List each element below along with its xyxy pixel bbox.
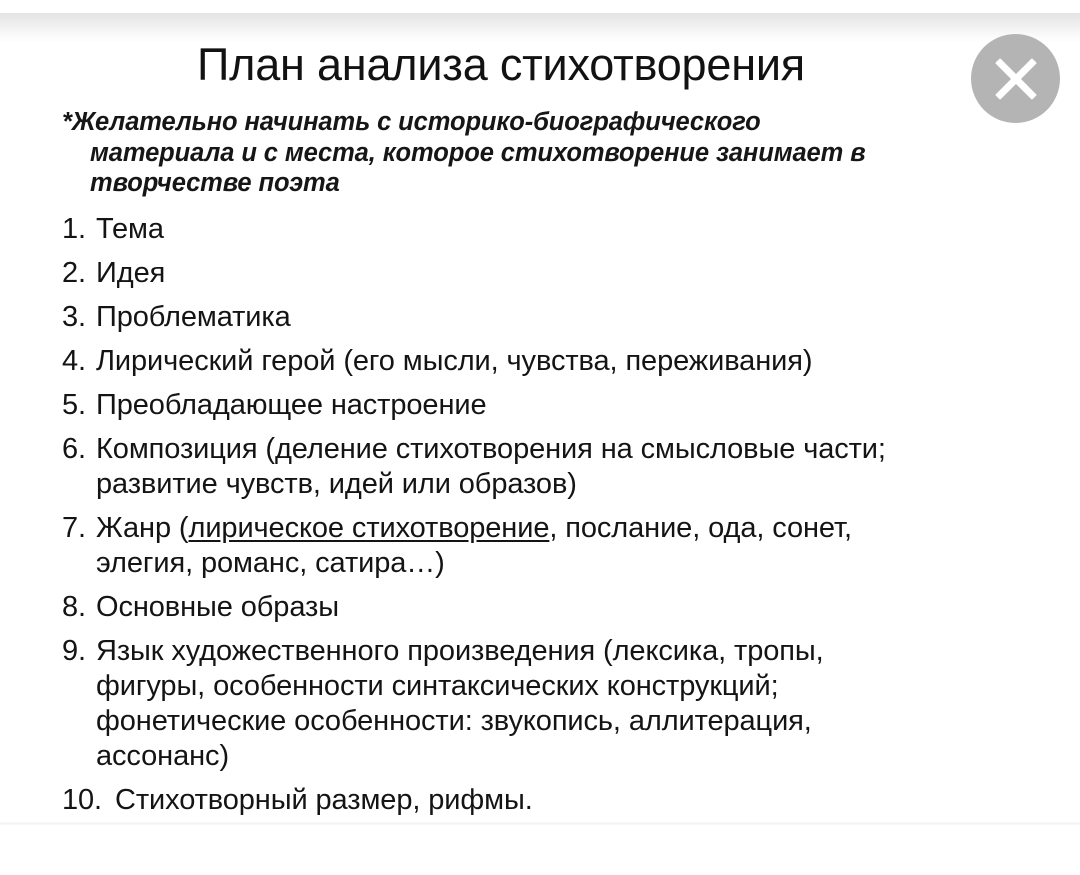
list-item-number: 6. xyxy=(62,432,96,467)
list-item-line: ассонанс) xyxy=(96,739,1012,774)
list-item-line: Язык художественного произведения (лекси… xyxy=(96,634,1012,669)
list-item-line: развитие чувств, идей или образов) xyxy=(96,467,1012,502)
list-item: 6.Композиция (деление стихотворения на с… xyxy=(62,432,1012,502)
list-item-line: Стихотворный размер, рифмы. xyxy=(115,783,1012,818)
list-item-line: Преобладающее настроение xyxy=(96,388,1012,423)
list-item: 9.Язык художественного произведения (лек… xyxy=(62,634,1012,774)
list-item: 7.Жанр (лирическое стихотворение, послан… xyxy=(62,511,1012,581)
intro-note-line: материала и с места, которое стихотворен… xyxy=(62,138,962,169)
list-item-line: Идея xyxy=(96,256,1012,291)
document-viewer: План анализа стихотворения *Желательно н… xyxy=(0,0,1080,875)
list-item: 5.Преобладающее настроение xyxy=(62,388,1012,423)
list-item-line: фонетические особенности: звукопись, алл… xyxy=(96,704,1012,739)
list-item-text: Лирический герой (его мысли, чувства, пе… xyxy=(96,344,1012,379)
list-item-number: 10. xyxy=(62,783,115,818)
list-item-text: Язык художественного произведения (лекси… xyxy=(96,634,1012,774)
intro-note-line: творчестве поэта xyxy=(62,168,962,199)
intro-note: *Желательно начинать с историко-биографи… xyxy=(62,107,962,199)
list-item: 1.Тема xyxy=(62,212,1012,247)
list-item-number: 9. xyxy=(62,634,96,669)
list-item-line: Композиция (деление стихотворения на смы… xyxy=(96,432,1012,467)
close-button[interactable] xyxy=(971,34,1060,123)
list-item-number: 2. xyxy=(62,256,96,291)
underlined-term: лирическое стихотворение xyxy=(189,512,550,544)
list-item-line: Тема xyxy=(96,212,1012,247)
list-item-line: Основные образы xyxy=(96,590,1012,625)
list-item-text: Проблематика xyxy=(96,300,1012,335)
list-item-text: Тема xyxy=(96,212,1012,247)
list-item-number: 5. xyxy=(62,388,96,423)
list-item-text: Композиция (деление стихотворения на смы… xyxy=(96,432,1012,502)
list-item-line: элегия, романс, сатира…) xyxy=(96,546,1012,581)
list-item-line: Лирический герой (его мысли, чувства, пе… xyxy=(96,344,1012,379)
list-item: 10.Стихотворный размер, рифмы. xyxy=(62,783,1012,818)
list-item: 2.Идея xyxy=(62,256,1012,291)
bottom-divider xyxy=(0,822,1080,825)
list-item-line: Жанр (лирическое стихотворение, послание… xyxy=(96,511,1012,546)
top-white-strip xyxy=(0,0,1080,13)
page-title: План анализа стихотворения xyxy=(0,38,1080,92)
intro-note-line: *Желательно начинать с историко-биографи… xyxy=(62,107,962,138)
list-item-text: Основные образы xyxy=(96,590,1012,625)
list-item-number: 1. xyxy=(62,212,96,247)
list-item: 3.Проблематика xyxy=(62,300,1012,335)
list-item-text: Стихотворный размер, рифмы. xyxy=(115,783,1012,818)
list-item-number: 3. xyxy=(62,300,96,335)
list-item-line: Проблематика xyxy=(96,300,1012,335)
list-item-text: Идея xyxy=(96,256,1012,291)
list-item-number: 8. xyxy=(62,590,96,625)
plan-list: 1.Тема2.Идея3.Проблематика4.Лирический г… xyxy=(62,212,1012,827)
list-item-number: 4. xyxy=(62,344,96,379)
list-item-number: 7. xyxy=(62,511,96,546)
list-item-text: Жанр (лирическое стихотворение, послание… xyxy=(96,511,1012,581)
list-item: 4.Лирический герой (его мысли, чувства, … xyxy=(62,344,1012,379)
list-item-text: Преобладающее настроение xyxy=(96,388,1012,423)
list-item-line: фигуры, особенности синтаксических конст… xyxy=(96,669,1012,704)
list-item: 8.Основные образы xyxy=(62,590,1012,625)
